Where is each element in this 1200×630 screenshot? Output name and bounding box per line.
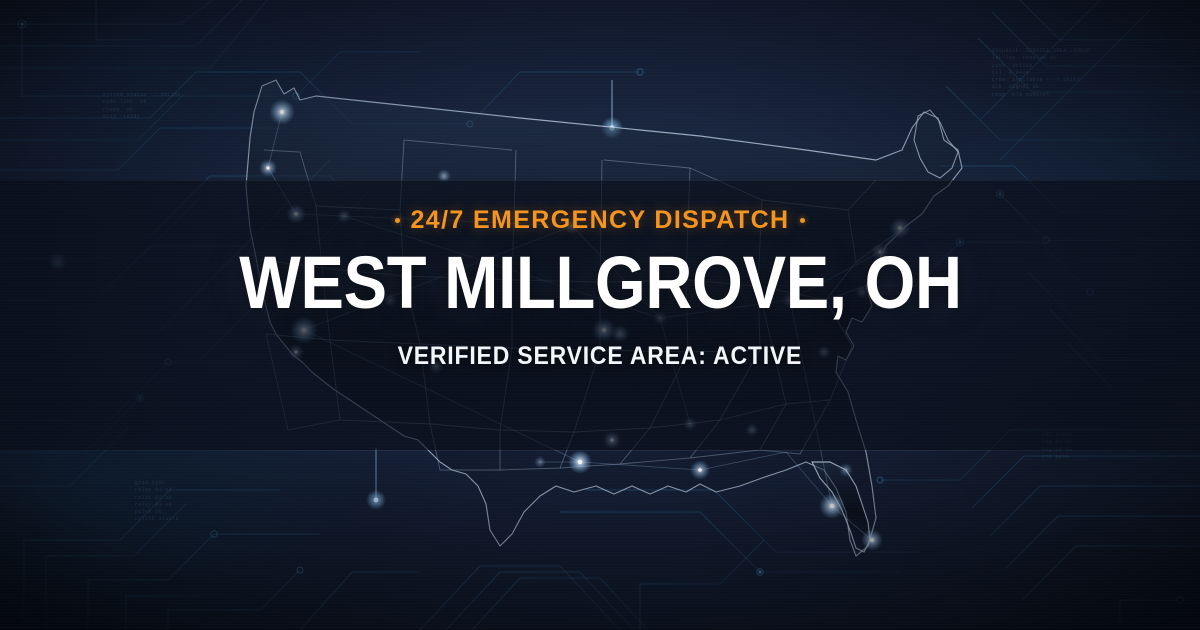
service-area-card: system_status :: ONLINE node.link ok rou… xyxy=(0,0,1200,630)
scanline-overlay xyxy=(0,0,1200,630)
